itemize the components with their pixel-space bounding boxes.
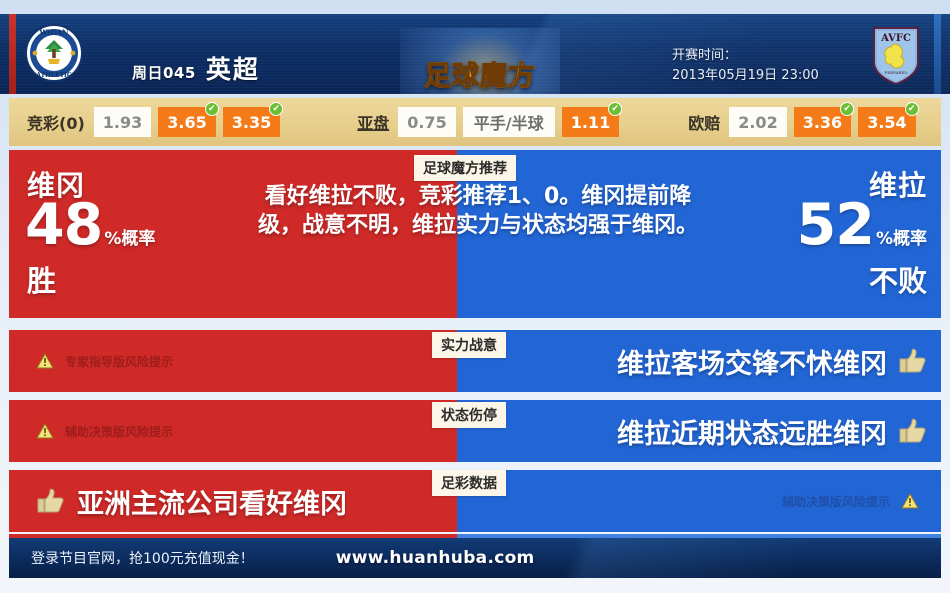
odds-group-label: 竞彩(0) bbox=[27, 110, 85, 134]
svg-text:WIGAN: WIGAN bbox=[39, 28, 70, 37]
away-outcome-label: 不败 bbox=[869, 258, 927, 300]
odds-value: 2.02 bbox=[738, 113, 777, 132]
odds-cell-oupei-1[interactable]: 2.02 bbox=[729, 107, 786, 137]
away-probability: 52 %概率 bbox=[797, 198, 927, 253]
kickoff-value: 2013年05月19日 23:00 bbox=[672, 66, 819, 86]
broadcast-graphic: 足球魔方 周日045 英超 开赛时间： 2013年05月19日 23:00 WI… bbox=[0, 0, 950, 593]
risk-note-left: 专家指导版风险提示 bbox=[9, 353, 173, 370]
check-icon: ✔ bbox=[905, 102, 919, 116]
footballcube-logo: 足球魔方 bbox=[400, 28, 560, 94]
footer-website[interactable]: www.huanhuba.com bbox=[336, 548, 535, 568]
svg-text:PREPARED: PREPARED bbox=[885, 70, 908, 75]
aston-villa-crest-icon: AVFC PREPARED bbox=[866, 22, 926, 84]
match-round: 周日045 bbox=[132, 62, 196, 83]
match-league: 英超 bbox=[206, 50, 260, 86]
away-probability-unit: %概率 bbox=[876, 224, 927, 249]
odds-cell-oupei-3[interactable]: 3.54 ✔ bbox=[858, 107, 915, 137]
odds-group-jingcai: 竞彩(0) 1.93 3.65 ✔ 3.35 ✔ bbox=[27, 107, 287, 137]
kickoff-time: 开赛时间： 2013年05月19日 23:00 bbox=[672, 46, 819, 86]
svg-text:AVFC: AVFC bbox=[880, 33, 911, 44]
odds-cell-yapan-3[interactable]: 1.11 ✔ bbox=[562, 107, 619, 137]
info-row-right: 维拉近期状态远胜维冈 bbox=[457, 400, 941, 462]
wigan-athletic-crest-icon: WIGAN ATHLETIC bbox=[24, 22, 84, 84]
kickoff-label: 开赛时间： bbox=[672, 46, 819, 66]
odds-value: 3.54 bbox=[867, 113, 906, 132]
warning-icon bbox=[36, 353, 54, 369]
row-badge-form: 状态伤停 bbox=[432, 402, 506, 428]
home-probability: 48 %概率 bbox=[25, 198, 155, 253]
headline-left: 亚洲主流公司看好维冈 bbox=[9, 482, 347, 521]
odds-bar: 竞彩(0) 1.93 3.65 ✔ 3.35 ✔ 亚盘 0.75 平手/半球 bbox=[9, 98, 941, 146]
match-title: 周日045 英超 bbox=[132, 50, 260, 86]
svg-text:ATHLETIC: ATHLETIC bbox=[35, 72, 72, 79]
odds-value: 0.75 bbox=[407, 113, 446, 132]
odds-value: 平手/半球 bbox=[474, 110, 544, 134]
home-outcome-label: 胜 bbox=[27, 258, 56, 300]
odds-cell-jingcai-1[interactable]: 1.93 bbox=[94, 107, 151, 137]
risk-note-text: 辅助决策版风险提示 bbox=[782, 493, 890, 510]
headline-text: 亚洲主流公司看好维冈 bbox=[77, 482, 347, 521]
check-icon: ✔ bbox=[205, 102, 219, 116]
headline-text: 维拉近期状态远胜维冈 bbox=[617, 412, 887, 451]
info-row-right: 辅助决策版风险提示 bbox=[457, 470, 941, 532]
odds-value: 3.35 bbox=[232, 113, 271, 132]
info-row-left: 专家指导版风险提示 bbox=[9, 330, 457, 392]
thumbs-up-icon bbox=[897, 418, 927, 444]
risk-note-left: 辅助决策版风险提示 bbox=[9, 423, 173, 440]
odds-cell-oupei-2[interactable]: 3.36 ✔ bbox=[794, 107, 851, 137]
away-probability-value: 52 bbox=[797, 198, 874, 253]
logo-text: 足球魔方 bbox=[400, 54, 560, 93]
info-row-left: 辅助决策版风险提示 bbox=[9, 400, 457, 462]
odds-cell-yapan-handicap[interactable]: 平手/半球 bbox=[463, 107, 555, 137]
odds-cell-jingcai-3[interactable]: 3.35 ✔ bbox=[223, 107, 280, 137]
footer-promo-text: 登录节目官网，抢100元充值现金！ bbox=[31, 548, 254, 568]
risk-note-text: 辅助决策版风险提示 bbox=[65, 423, 173, 440]
odds-value: 3.36 bbox=[803, 113, 842, 132]
check-icon: ✔ bbox=[840, 102, 854, 116]
info-row-left: 亚洲主流公司看好维冈 bbox=[9, 470, 457, 532]
risk-note-right: 辅助决策版风险提示 bbox=[782, 493, 941, 510]
row-badge-data: 足彩数据 bbox=[432, 470, 506, 496]
info-row-right: 维拉客场交锋不怵维冈 bbox=[457, 330, 941, 392]
check-icon: ✔ bbox=[269, 102, 283, 116]
headline-right: 维拉客场交锋不怵维冈 bbox=[617, 342, 941, 381]
warning-icon bbox=[901, 493, 919, 509]
headline-text: 维拉客场交锋不怵维冈 bbox=[617, 342, 887, 381]
odds-value: 3.65 bbox=[167, 113, 206, 132]
home-probability-value: 48 bbox=[25, 198, 102, 253]
risk-note-text: 专家指导版风险提示 bbox=[65, 353, 173, 370]
header-accent-strip-red bbox=[9, 14, 16, 94]
row-badge-strength: 实力战意 bbox=[432, 332, 506, 358]
check-icon: ✔ bbox=[608, 102, 622, 116]
odds-cell-jingcai-2[interactable]: 3.65 ✔ bbox=[158, 107, 215, 137]
header-accent-strip-blue bbox=[934, 14, 941, 94]
warning-icon bbox=[36, 423, 54, 439]
odds-group-oupei: 欧赔 2.02 3.36 ✔ 3.54 ✔ bbox=[688, 107, 922, 137]
odds-group-label: 欧赔 bbox=[688, 110, 720, 134]
odds-value: 1.93 bbox=[103, 113, 142, 132]
thumbs-up-icon bbox=[35, 488, 65, 514]
recommendation-badge: 足球魔方推荐 bbox=[414, 155, 516, 181]
odds-value: 1.11 bbox=[571, 113, 610, 132]
match-header: 足球魔方 周日045 英超 开赛时间： 2013年05月19日 23:00 bbox=[0, 14, 950, 94]
thumbs-up-icon bbox=[897, 348, 927, 374]
odds-group-yapan: 亚盘 0.75 平手/半球 1.11 ✔ bbox=[357, 107, 626, 137]
recommendation-text: 看好维拉不败，竞彩推荐1、0。维冈提前降级，战意不明，维拉实力与状态均强于维冈。 bbox=[243, 182, 713, 241]
footer-bar: 登录节目官网，抢100元充值现金！ www.huanhuba.com bbox=[9, 538, 941, 578]
odds-cell-yapan-1[interactable]: 0.75 bbox=[398, 107, 455, 137]
home-probability-unit: %概率 bbox=[104, 224, 155, 249]
odds-group-label: 亚盘 bbox=[357, 110, 389, 134]
headline-right: 维拉近期状态远胜维冈 bbox=[617, 412, 941, 451]
